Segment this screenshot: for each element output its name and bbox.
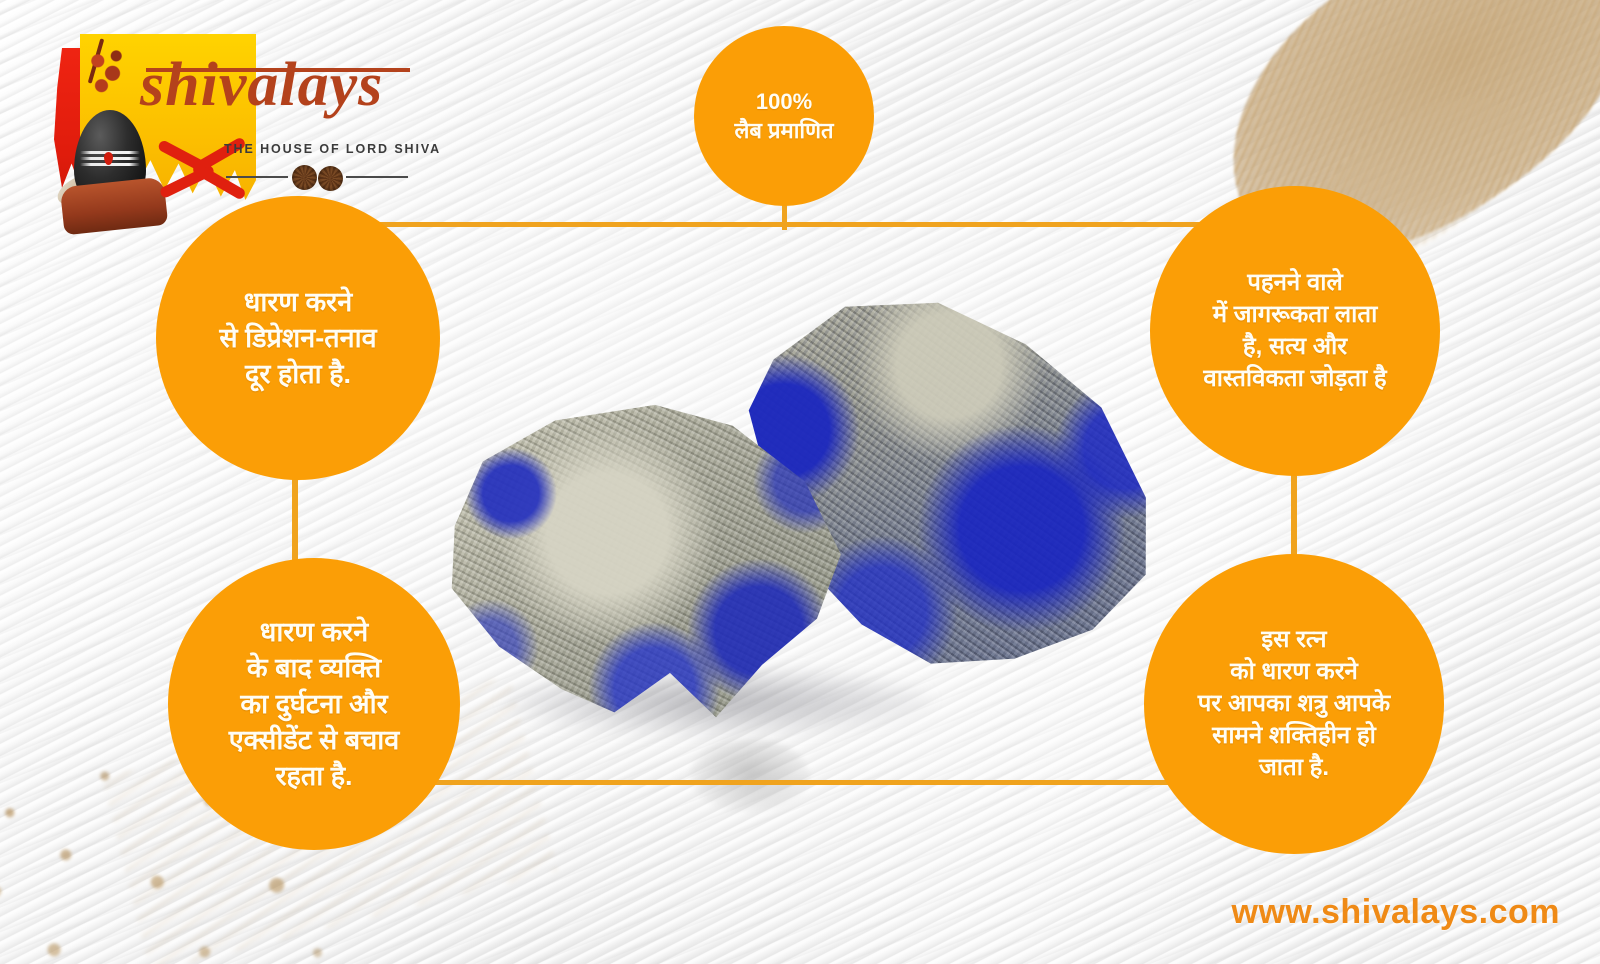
benefit-text-awareness-truth: पहनने वाले में जागरूकता लाता है, सत्य और… — [1160, 267, 1430, 396]
badge-lab-certified[interactable]: 100% लैब प्रमाणित — [694, 26, 874, 206]
benefit-text-depression-stress: धारण करने से डिप्रेशन-तनाव दूर होता है. — [166, 284, 430, 393]
benefit-bubble-depression-stress[interactable]: धारण करने से डिप्रेशन-तनाव दूर होता है. — [156, 196, 440, 480]
benefit-line: से डिप्रेशन-तनाव — [166, 320, 430, 356]
tagline-rule-right — [346, 176, 408, 178]
benefit-line: दूर होता है. — [166, 356, 430, 392]
benefit-line: जाता है. — [1154, 752, 1434, 784]
infographic-canvas: 100% लैब प्रमाणित धारण करने से डिप्रेशन-… — [0, 0, 1600, 964]
red-flower-icon — [84, 46, 130, 108]
connector-line-top-horizontal — [285, 222, 1235, 227]
benefit-text-enemy-powerless: इस रत्न को धारण करने पर आपका शत्रु आपके … — [1154, 624, 1434, 785]
benefit-line: सामने शक्तिहीन हो — [1154, 720, 1434, 752]
benefit-line: को धारण करने — [1154, 656, 1434, 688]
benefit-bubble-accident-protection[interactable]: धारण करने के बाद व्यक्ति का दुर्घटना और … — [168, 558, 460, 850]
brand-tagline: THE HOUSE OF LORD SHIVA — [224, 142, 441, 156]
benefit-line: में जागरूकता लाता — [1160, 299, 1430, 331]
tagline-rule-left — [226, 176, 288, 178]
benefit-line: रहता है. — [178, 758, 450, 794]
website-url[interactable]: www.shivalays.com — [1232, 893, 1561, 932]
brand-logo[interactable]: shivalays THE HOUSE OF LORD SHIVA — [28, 24, 400, 206]
benefit-text-accident-protection: धारण करने के बाद व्यक्ति का दुर्घटना और … — [178, 614, 450, 795]
rudraksha-bead-icon — [292, 162, 346, 192]
badge-lab-certified-text: 100% लैब प्रमाणित — [704, 87, 864, 146]
benefit-line: इस रत्न — [1154, 624, 1434, 656]
benefit-line: पर आपका शत्रु आपके — [1154, 688, 1434, 720]
badge-percent: 100% — [704, 87, 864, 116]
lapis-lazuli-stones-image — [432, 296, 1172, 756]
benefit-line: एक्सीडेंट से बचाव — [178, 722, 450, 758]
benefit-line: है, सत्य और — [1160, 331, 1430, 363]
badge-label: लैब प्रमाणित — [704, 116, 864, 145]
benefit-bubble-awareness-truth[interactable]: पहनने वाले में जागरूकता लाता है, सत्य और… — [1150, 186, 1440, 476]
benefit-line: के बाद व्यक्ति — [178, 650, 450, 686]
benefit-line: का दुर्घटना और — [178, 686, 450, 722]
benefit-bubble-enemy-powerless[interactable]: इस रत्न को धारण करने पर आपका शत्रु आपके … — [1144, 554, 1444, 854]
benefit-line: वास्तविकता जोड़ता है — [1160, 363, 1430, 395]
benefit-line: पहनने वाले — [1160, 267, 1430, 299]
benefit-line: धारण करने — [178, 614, 450, 650]
benefit-line: धारण करने — [166, 284, 430, 320]
brand-wordmark: shivalays — [140, 50, 383, 121]
